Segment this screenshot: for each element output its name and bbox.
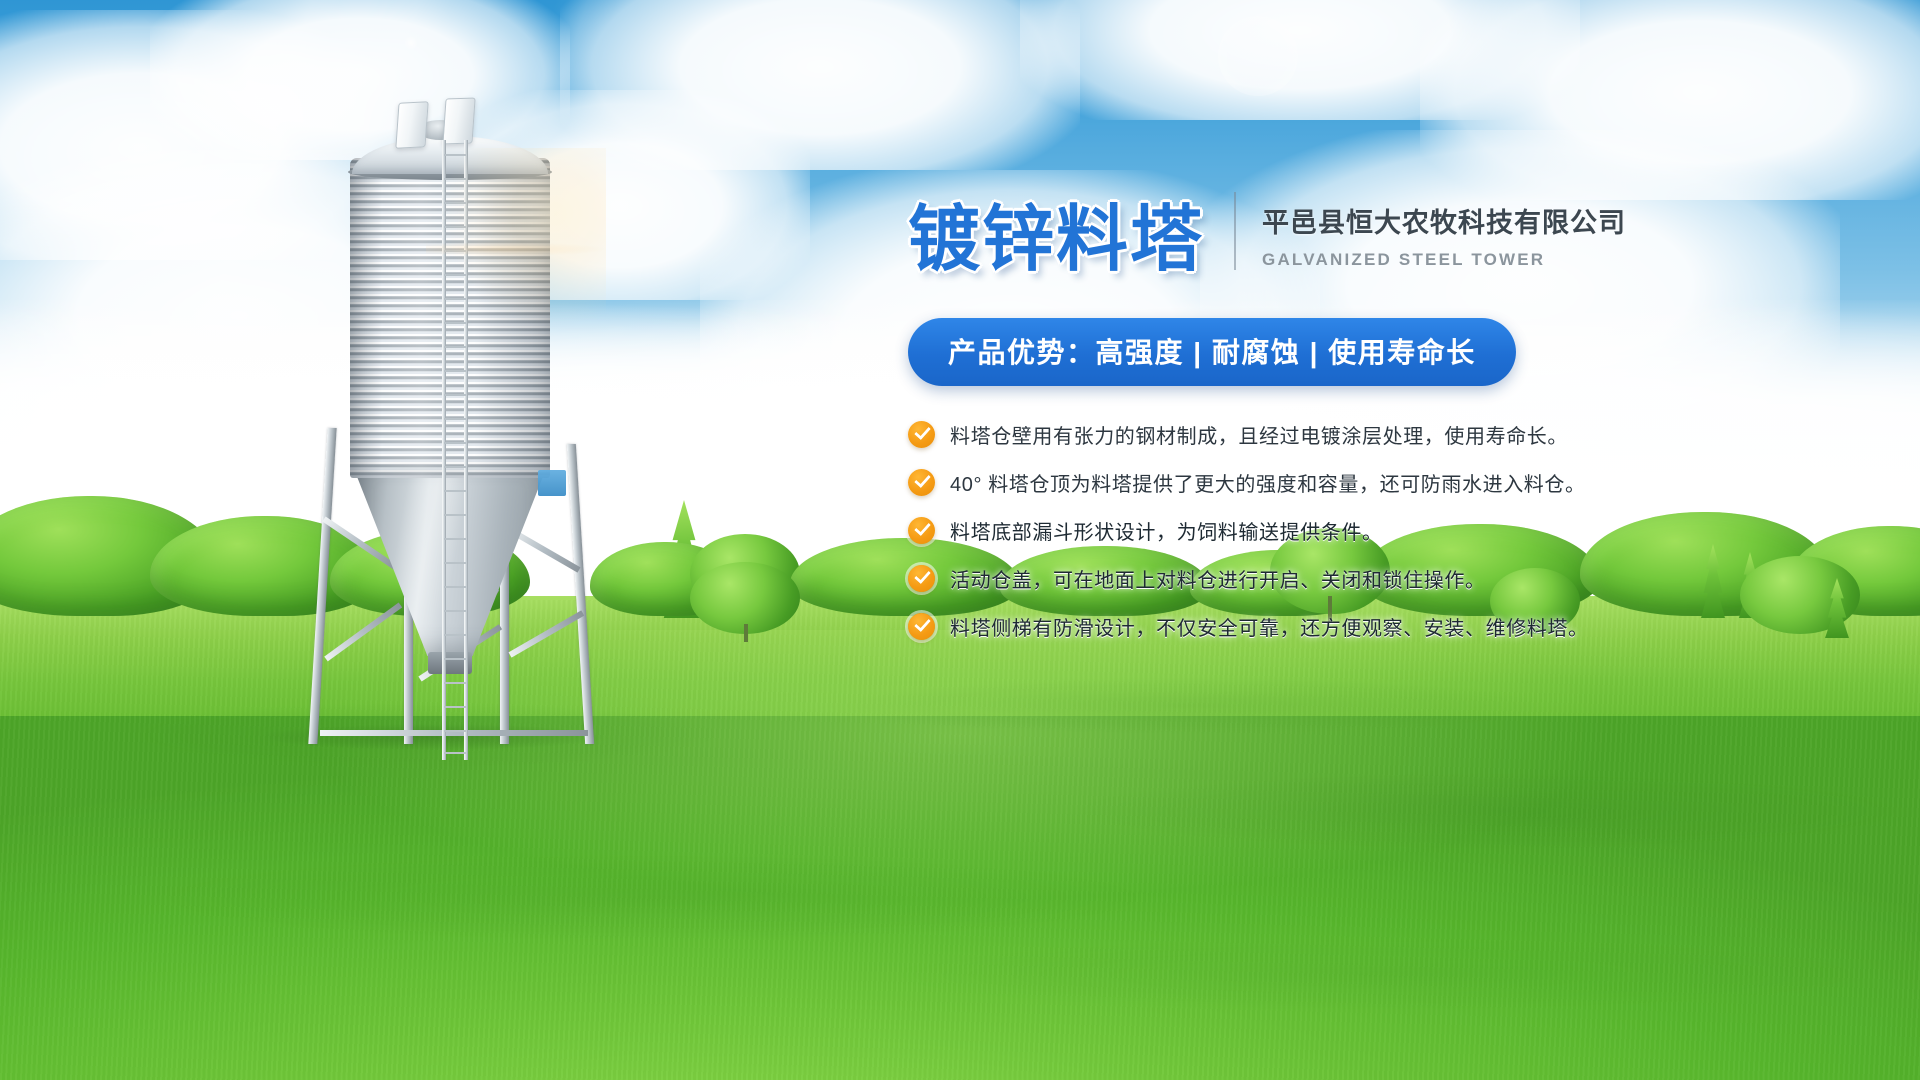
feature-text: 40° 料塔仓顶为料塔提供了更大的强度和容量，还可防雨水进入料仓。 <box>950 468 1586 497</box>
feature-text: 活动仓盖，可在地面上对料仓进行开启、关闭和锁住操作。 <box>950 564 1486 593</box>
ladder-rung <box>444 346 466 348</box>
feature-text: 料塔底部漏斗形状设计，为饲料输送提供条件。 <box>950 516 1383 545</box>
ladder-rung <box>444 178 466 180</box>
silo-leg <box>308 428 336 744</box>
ladder-rung <box>444 514 466 516</box>
ladder-rail <box>442 140 446 760</box>
foreground-tree-group <box>660 540 900 650</box>
check-circle-icon <box>908 613 935 640</box>
banner-stage: 平邑县恒大农牧科技 400-850 8818 <box>0 0 1920 1080</box>
ladder-rung <box>444 610 466 612</box>
ladder-rung <box>444 682 466 684</box>
ladder-rung <box>444 706 466 708</box>
feature-item: 料塔仓壁用有张力的钢材制成，且经过电镀涂层处理，使用寿命长。 <box>908 420 1868 449</box>
tree-trunk <box>744 624 748 642</box>
ladder-rung <box>444 418 466 420</box>
feature-text: 料塔仓壁用有张力的钢材制成，且经过电镀涂层处理，使用寿命长。 <box>950 420 1568 449</box>
cloud-shape <box>560 0 1080 170</box>
silo-roof-vent-icon <box>442 97 475 144</box>
check-circle-icon <box>908 517 935 544</box>
company-subtitle-en: GALVANIZED STEEL TOWER <box>1262 250 1626 270</box>
content-panel: 镀锌料塔 平邑县恒大农牧科技有限公司 GALVANIZED STEEL TOWE… <box>908 192 1868 660</box>
ladder-rung <box>444 586 466 588</box>
silo-brace <box>509 610 585 657</box>
ladder-rung <box>444 394 466 396</box>
ladder-rung <box>444 490 466 492</box>
check-circle-icon <box>908 421 935 448</box>
feature-text: 料塔侧梯有防滑设计，不仅安全可靠，还方便观察、安装、维修料塔。 <box>950 612 1589 641</box>
ladder-rung <box>444 442 466 444</box>
company-name: 平邑县恒大农牧科技有限公司 <box>1262 201 1626 240</box>
grass-texture <box>0 600 1920 1080</box>
check-circle-icon <box>908 469 935 496</box>
ladder-rung <box>444 730 466 732</box>
silo-roof-vent-icon <box>395 101 428 149</box>
ladder-rung <box>444 466 466 468</box>
ladder-rail <box>464 140 468 760</box>
feature-item: 40° 料塔仓顶为料塔提供了更大的强度和容量，还可防雨水进入料仓。 <box>908 468 1868 497</box>
ladder-rung <box>444 250 466 252</box>
check-circle-icon <box>908 565 935 592</box>
ladder-rung <box>444 154 466 156</box>
silo-brace <box>324 602 402 661</box>
ladder-rung <box>444 562 466 564</box>
silo-blue-label <box>538 470 566 496</box>
feature-item: 料塔底部漏斗形状设计，为饲料输送提供条件。 <box>908 516 1868 545</box>
lens-flare-ring-icon <box>1218 16 1298 96</box>
advantage-pill-badge: 产品优势：高强度 | 耐腐蚀 | 使用寿命长 <box>908 318 1516 386</box>
ladder-rung <box>444 202 466 204</box>
ladder-rung <box>444 538 466 540</box>
lens-flare-dot-icon <box>404 36 418 50</box>
ladder-rung <box>444 298 466 300</box>
company-block: 平邑县恒大农牧科技有限公司 GALVANIZED STEEL TOWER <box>1262 201 1626 276</box>
page-title: 镀锌料塔 <box>908 204 1204 276</box>
ladder-rung <box>444 226 466 228</box>
feature-list: 料塔仓壁用有张力的钢材制成，且经过电镀涂层处理，使用寿命长。 40° 料塔仓顶为… <box>908 420 1868 641</box>
silo-product-image: 平邑县恒大农牧科技 400-850 8818 <box>300 96 620 744</box>
feature-item: 活动仓盖，可在地面上对料仓进行开启、关闭和锁住操作。 <box>908 564 1868 593</box>
ladder-rung <box>444 634 466 636</box>
ladder-rung <box>444 274 466 276</box>
feature-item: 料塔侧梯有防滑设计，不仅安全可靠，还方便观察、安装、维修料塔。 <box>908 612 1868 641</box>
vertical-divider <box>1234 192 1236 270</box>
title-row: 镀锌料塔 平邑县恒大农牧科技有限公司 GALVANIZED STEEL TOWE… <box>908 192 1868 276</box>
ladder-rung <box>444 752 466 754</box>
silo-side-ladder <box>442 140 468 760</box>
ladder-rung <box>444 658 466 660</box>
silo-leg <box>567 444 594 744</box>
ladder-rung <box>444 370 466 372</box>
ladder-rung <box>444 322 466 324</box>
